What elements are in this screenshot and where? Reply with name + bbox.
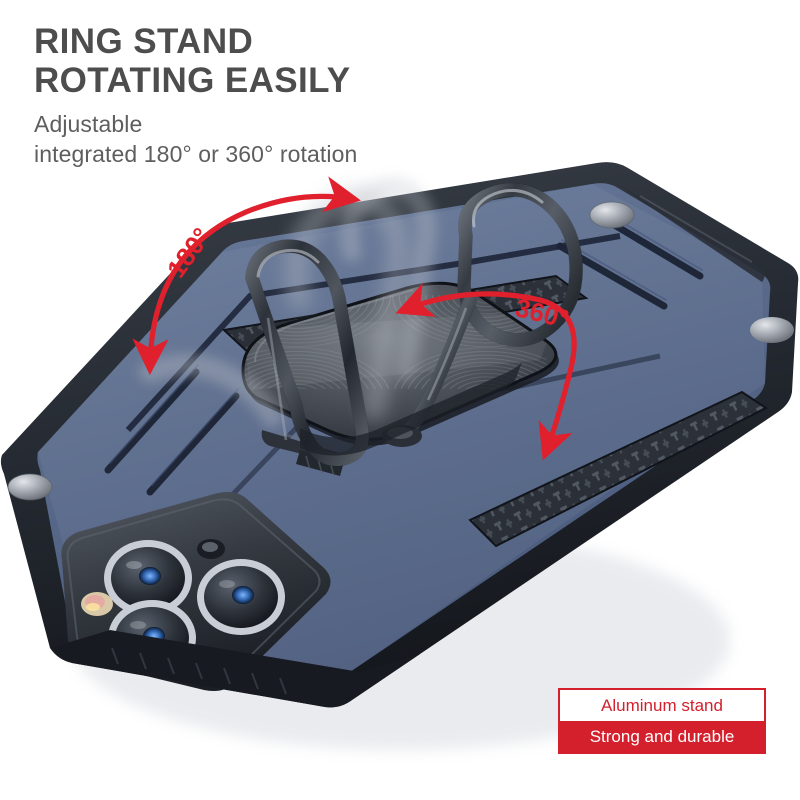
feature-badge: Aluminum stand Strong and durable [558,688,766,754]
svg-text:360°: 360° [512,292,571,334]
subheadline-line-2: integrated 180° or 360° rotation [34,139,357,169]
headline-block: RING STAND ROTATING EASILY Adjustable in… [34,22,357,169]
subheadline-line-1: Adjustable [34,109,357,139]
badge-top-label: Aluminum stand [560,690,764,721]
headline-line-1: RING STAND [34,22,357,61]
arrow-180 [150,196,352,366]
label-360: 360° [512,292,571,334]
subheadline-block: Adjustable integrated 180° or 360° rotat… [34,109,357,169]
badge-bottom-label: Strong and durable [560,721,764,752]
product-marketing-image: 180° 360° RING STAND ROTATING EASILY Adj… [0,0,800,800]
headline-line-2: ROTATING EASILY [34,61,357,100]
